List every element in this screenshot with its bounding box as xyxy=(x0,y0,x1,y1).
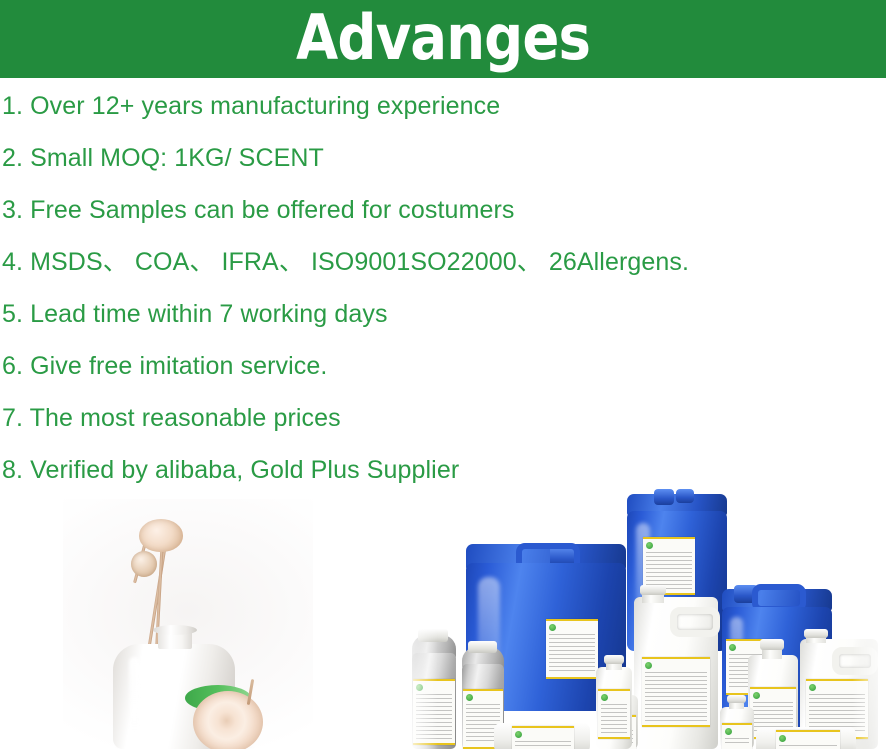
product-photos-row xyxy=(0,489,886,749)
white-bottle-cap xyxy=(760,639,784,650)
list-item: 3. Free Samples can be offered for costu… xyxy=(0,184,886,236)
jerry-can-cap xyxy=(676,489,694,503)
company-logo-icon xyxy=(645,662,652,669)
jerry-can-cap xyxy=(654,489,674,505)
white-jug-cap xyxy=(804,629,828,638)
product-label xyxy=(642,657,710,727)
reed-diffuser-photo xyxy=(63,499,313,749)
company-logo-icon xyxy=(753,692,760,699)
sola-ball-icon xyxy=(131,551,157,577)
white-jug-handle xyxy=(670,607,720,637)
product-label xyxy=(776,730,840,749)
product-label xyxy=(413,679,455,745)
label-text-lines xyxy=(416,694,452,740)
company-logo-icon xyxy=(549,624,556,631)
label-text-lines xyxy=(725,738,749,746)
product-label xyxy=(546,619,598,679)
list-item: 5. Lead time within 7 working days xyxy=(0,288,886,340)
company-logo-icon xyxy=(515,731,522,738)
list-item: 2. Small MOQ: 1KG/ SCENT xyxy=(0,132,886,184)
list-item: 6. Give free imitation service. xyxy=(0,340,886,392)
list-item: 1. Over 12+ years manufacturing experien… xyxy=(0,80,886,132)
company-logo-icon xyxy=(729,644,736,651)
product-label xyxy=(722,723,752,749)
chemical-containers-photo xyxy=(404,489,886,749)
sola-flower-icon xyxy=(139,519,183,552)
diffuser-bottle-highlight xyxy=(129,657,140,733)
product-label xyxy=(598,689,630,739)
product-label xyxy=(512,726,574,749)
white-jug-handle xyxy=(832,647,878,675)
company-logo-icon xyxy=(466,694,473,701)
list-item: 4. MSDS、 COA、 IFRA、 ISO9001SO22000、 26Al… xyxy=(0,236,886,288)
white-bottle-cap xyxy=(727,695,746,703)
label-text-lines xyxy=(601,704,627,734)
list-item: 7. The most reasonable prices xyxy=(0,392,886,444)
company-logo-icon xyxy=(725,728,732,735)
lying-white-bottle-left xyxy=(494,723,590,749)
white-jug-cap xyxy=(640,585,666,595)
aluminum-bottle-cap xyxy=(468,641,497,653)
label-text-lines xyxy=(779,745,837,749)
company-logo-icon xyxy=(779,735,786,742)
lying-white-bottle-right xyxy=(756,727,856,749)
label-text-lines xyxy=(515,741,571,749)
company-logo-icon xyxy=(416,684,423,691)
company-logo-icon xyxy=(646,542,653,549)
label-text-lines xyxy=(549,634,595,674)
white-bottle-cap xyxy=(604,655,624,664)
company-logo-icon xyxy=(601,694,608,701)
label-text-lines xyxy=(645,672,707,722)
diffuser-bottle-lip xyxy=(153,625,197,635)
page-title: Advanges xyxy=(296,7,590,69)
aluminum-bottle-cap xyxy=(418,629,448,642)
header-banner: Advanges xyxy=(0,0,886,78)
advantages-list: 1. Over 12+ years manufacturing experien… xyxy=(0,80,886,496)
diffuser-flower-icon xyxy=(193,691,263,749)
company-logo-icon xyxy=(809,684,816,691)
